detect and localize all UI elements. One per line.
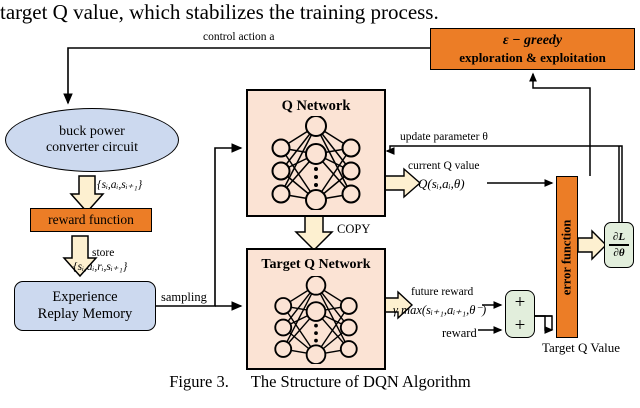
label-control-action: control action a xyxy=(203,31,275,43)
figure-caption: Figure 3. The Structure of DQN Algorithm xyxy=(0,372,640,392)
adder-block[interactable]: + + xyxy=(505,290,535,338)
label-q-value-formula: Q(sᵢ,aᵢ,θ) xyxy=(418,176,465,192)
neural-net-diagram-icon xyxy=(263,116,369,210)
buck-converter-block[interactable]: buck power converter circuit xyxy=(5,108,179,172)
gradient-block[interactable]: ∂L ∂θ xyxy=(604,222,634,268)
buck-line-2: converter circuit xyxy=(46,140,138,156)
experience-replay-memory-block[interactable]: Experience Replay Memory xyxy=(14,281,156,331)
label-future-reward-formula: γ max(sᵢ₊₁,aᵢ₊₁,θ⁻) xyxy=(393,302,486,318)
gradient-denominator: ∂θ xyxy=(613,247,624,259)
label-transition-tuple-sars: {sᵢ,aᵢ,rᵢ,sᵢ₊₁} xyxy=(73,259,127,273)
label-future-reward: future reward xyxy=(411,286,473,298)
q-network-title: Q Network xyxy=(248,98,384,115)
epsilon-greedy-title: ε − greedy xyxy=(503,33,562,49)
figure-canvas: target Q value, which stabilizes the tra… xyxy=(0,0,640,408)
label-reward: reward xyxy=(442,326,477,341)
target-q-network-title: Target Q Network xyxy=(248,257,384,273)
label-update-parameter: update parameter θ xyxy=(400,131,488,143)
error-function-block[interactable]: error function xyxy=(556,176,578,338)
figure-number: Figure 3. xyxy=(169,372,229,391)
gradient-numerator: ∂L xyxy=(613,231,625,243)
plus-icon-2: + xyxy=(515,318,526,334)
figure-title: The Structure of DQN Algorithm xyxy=(251,372,471,391)
fraction-bar xyxy=(609,244,629,245)
plus-icon-1: + xyxy=(515,295,526,311)
label-transition-tuple-sas: {sᵢ,aᵢ,sᵢ₊₁} xyxy=(97,177,142,191)
reward-function-block[interactable]: reward function xyxy=(30,208,152,232)
epsilon-greedy-subtitle: exploration & exploitation xyxy=(459,50,606,66)
epsilon-greedy-block[interactable]: ε − greedy exploration & exploitation xyxy=(430,28,635,70)
label-copy: COPY xyxy=(337,222,370,237)
buck-line-1: buck power xyxy=(59,124,125,140)
label-store: store xyxy=(92,247,114,259)
label-sampling: sampling xyxy=(161,290,207,305)
target-q-network-block[interactable]: Target Q Network xyxy=(246,248,386,370)
label-target-q-value: Target Q Value xyxy=(542,340,620,356)
q-network-block[interactable]: Q Network xyxy=(246,89,386,217)
target-neural-net-diagram-icon xyxy=(263,276,369,364)
body-text-line: target Q value, which stabilizes the tra… xyxy=(0,0,640,24)
label-current-q-value: current Q value xyxy=(408,160,480,172)
erm-line-2: Replay Memory xyxy=(38,306,133,323)
error-function-label: error function xyxy=(560,219,575,295)
erm-line-1: Experience xyxy=(52,289,117,306)
